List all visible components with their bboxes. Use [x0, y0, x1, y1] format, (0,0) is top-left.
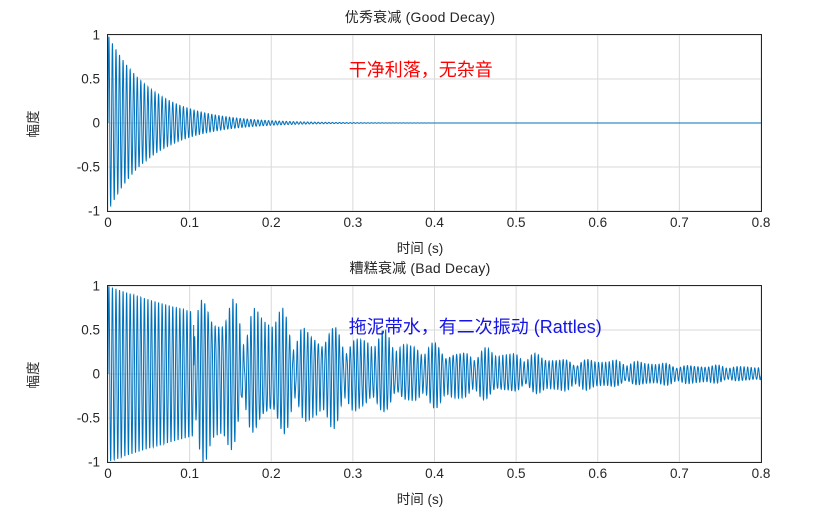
x-tick-label: 0.8	[731, 215, 791, 230]
y-axis-label-good-decay: 幅度	[22, 94, 42, 154]
plot-area-bad-decay	[107, 285, 762, 463]
x-tick-label: 0	[78, 466, 138, 481]
y-tick-label: 0	[52, 367, 100, 382]
x-tick-label: 0.5	[486, 215, 546, 230]
x-axis-label-bad-decay: 时间 (s)	[0, 488, 840, 508]
y-tick-label: 0.5	[52, 72, 100, 87]
axes-good-decay: 优秀衰减 (Good Decay) 幅度 10.50-0.5-1 00.10.2…	[0, 0, 840, 250]
matlab-figure: 优秀衰减 (Good Decay) 幅度 10.50-0.5-1 00.10.2…	[0, 0, 840, 505]
y-tick-label: -0.5	[52, 411, 100, 426]
x-tick-label: 0.7	[649, 466, 709, 481]
x-tick-label: 0.7	[649, 215, 709, 230]
axes-bad-decay: 糟糕衰减 (Bad Decay) 幅度 10.50-0.5-1 00.10.20…	[0, 248, 840, 505]
x-tick-label: 0	[78, 215, 138, 230]
y-tick-label: -0.5	[52, 160, 100, 175]
x-tick-label: 0.1	[160, 215, 220, 230]
x-tick-label: 0.1	[160, 466, 220, 481]
y-tick-label: 1	[52, 28, 100, 43]
plot-title-bad-decay: 糟糕衰减 (Bad Decay)	[0, 258, 840, 278]
plot-title-good-decay: 优秀衰减 (Good Decay)	[0, 7, 840, 27]
annotation-good-decay: 干净利落，无杂音	[349, 56, 493, 82]
y-tick-label: 0.5	[52, 323, 100, 338]
x-tick-label: 0.4	[405, 466, 465, 481]
x-tick-label: 0.6	[568, 466, 628, 481]
x-tick-label: 0.5	[486, 466, 546, 481]
y-axis-label-bad-decay: 幅度	[22, 345, 42, 405]
y-tick-label: 0	[52, 116, 100, 131]
x-tick-label: 0.2	[241, 215, 301, 230]
x-tick-label: 0.8	[731, 466, 791, 481]
x-tick-label: 0.3	[323, 215, 383, 230]
x-tick-label: 0.3	[323, 466, 383, 481]
annotation-bad-decay: 拖泥带水，有二次振动 (Rattles)	[349, 313, 602, 339]
x-tick-label: 0.2	[241, 466, 301, 481]
x-tick-label: 0.4	[405, 215, 465, 230]
y-tick-label: 1	[52, 279, 100, 294]
x-tick-label: 0.6	[568, 215, 628, 230]
